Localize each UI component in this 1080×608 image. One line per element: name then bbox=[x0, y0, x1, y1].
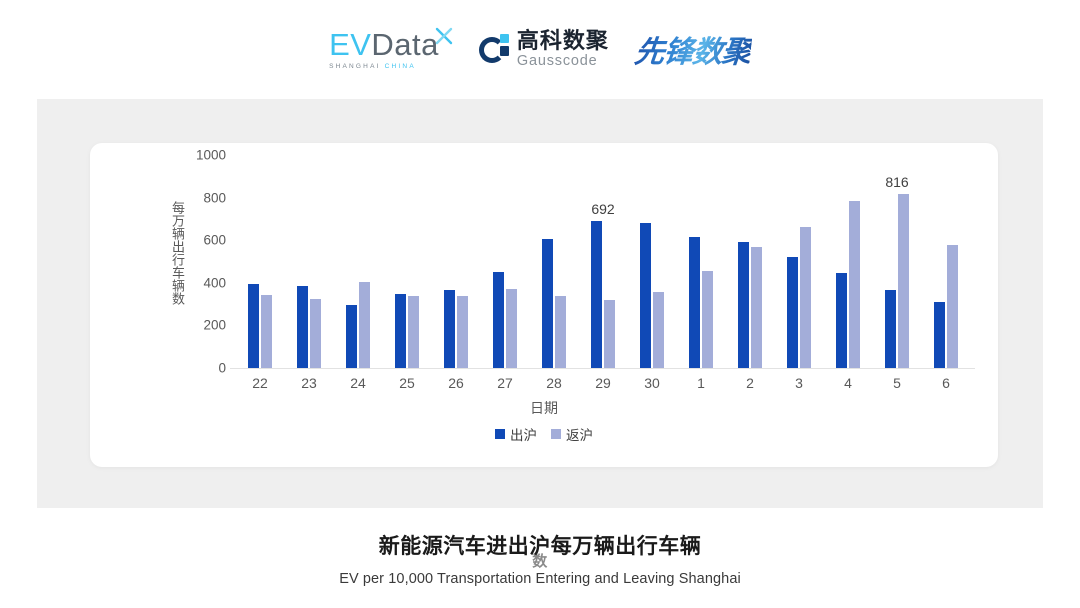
y-axis-tick-0: 0 bbox=[218, 361, 226, 376]
bar-back[interactable] bbox=[849, 201, 860, 368]
x-sparkle-icon bbox=[435, 26, 455, 46]
bar-group[interactable] bbox=[287, 155, 331, 368]
x-axis-tick-labels: 222324252627282930123456 bbox=[238, 375, 968, 395]
bar-groups: 692816 bbox=[238, 155, 968, 368]
x-axis-tick-label: 25 bbox=[385, 375, 429, 395]
bar-out[interactable] bbox=[640, 223, 651, 368]
legend-label: 返沪 bbox=[566, 424, 593, 444]
x-axis-tick-label: 29 bbox=[581, 375, 625, 395]
bar-back[interactable] bbox=[702, 271, 713, 368]
bar-out[interactable] bbox=[248, 284, 259, 368]
bar-back[interactable] bbox=[653, 292, 664, 368]
x-axis-tick-label: 30 bbox=[630, 375, 674, 395]
y-axis-tick-600: 600 bbox=[203, 233, 226, 248]
x-axis-title: 日期 bbox=[90, 398, 998, 418]
bar-group[interactable] bbox=[728, 155, 772, 368]
bar-back[interactable] bbox=[457, 296, 468, 368]
chart-legend: 出沪返沪 bbox=[90, 424, 998, 444]
x-axis-tick-label: 22 bbox=[238, 375, 282, 395]
gausscode-cn-text: 高科数聚 bbox=[517, 30, 609, 52]
bar-out[interactable] bbox=[689, 237, 700, 368]
bar-chart: 每万辆出行车辆数 02004006008001000 692816 222324… bbox=[90, 143, 998, 467]
legend-swatch-icon bbox=[495, 429, 505, 439]
legend-item-back[interactable]: 返沪 bbox=[551, 424, 593, 444]
bar-value-label: 692 bbox=[591, 201, 614, 217]
chart-card: 每万辆出行车辆数 02004006008001000 692816 222324… bbox=[90, 143, 998, 467]
y-axis-tick-200: 200 bbox=[203, 318, 226, 333]
legend-label: 出沪 bbox=[510, 424, 537, 444]
bar-group[interactable] bbox=[483, 155, 527, 368]
bar-out[interactable] bbox=[787, 257, 798, 368]
bar-back[interactable] bbox=[898, 194, 909, 368]
bar-out[interactable] bbox=[591, 221, 602, 368]
bar-back[interactable] bbox=[261, 295, 272, 368]
evdata-wordmark: EVData bbox=[329, 29, 439, 60]
y-axis-tick-1000: 1000 bbox=[196, 148, 226, 163]
x-axis-tick-label: 2 bbox=[728, 375, 772, 395]
bar-back[interactable] bbox=[947, 245, 958, 368]
caption-title-cn: 新能源汽车进出沪每万辆出行车辆 数 bbox=[379, 530, 702, 560]
evdata-ev-text: EV bbox=[329, 27, 371, 62]
bar-back[interactable] bbox=[800, 227, 811, 368]
logo-xianfeng: 先锋数聚 bbox=[633, 27, 754, 71]
x-axis-tick-label: 5 bbox=[875, 375, 919, 395]
bar-group[interactable] bbox=[630, 155, 674, 368]
y-axis-title: 每万辆出行车辆数 bbox=[168, 183, 186, 323]
bar-out[interactable] bbox=[738, 242, 749, 368]
evdata-tagline-city: SHANGHAI bbox=[329, 63, 381, 70]
bar-group[interactable] bbox=[336, 155, 380, 368]
bar-group[interactable] bbox=[434, 155, 478, 368]
bar-back[interactable] bbox=[751, 247, 762, 368]
gausscode-mark-icon bbox=[479, 34, 510, 65]
x-axis-tick-label: 27 bbox=[483, 375, 527, 395]
bar-out[interactable] bbox=[836, 273, 847, 368]
legend-item-out[interactable]: 出沪 bbox=[495, 424, 537, 444]
bar-out[interactable] bbox=[346, 305, 357, 368]
slide-root: EVData SHANGHAI CHINA 高科数聚 Gausscode bbox=[0, 0, 1080, 608]
logo-evdata: EVData SHANGHAI CHINA bbox=[329, 29, 453, 70]
x-axis-tick-label: 23 bbox=[287, 375, 331, 395]
bar-group[interactable] bbox=[679, 155, 723, 368]
bar-back[interactable] bbox=[604, 300, 615, 368]
x-axis-tick-label: 6 bbox=[924, 375, 968, 395]
bar-group[interactable]: 692 bbox=[581, 155, 625, 368]
evdata-data-text: Data bbox=[371, 27, 438, 62]
bar-out[interactable] bbox=[542, 239, 553, 369]
bar-group[interactable] bbox=[532, 155, 576, 368]
bar-out[interactable] bbox=[444, 290, 455, 368]
bar-out[interactable] bbox=[934, 302, 945, 368]
caption-block: 新能源汽车进出沪每万辆出行车辆 数 EV per 10,000 Transpor… bbox=[0, 530, 1080, 587]
bar-group[interactable] bbox=[238, 155, 282, 368]
bar-value-label: 816 bbox=[885, 174, 908, 190]
logo-gausscode: 高科数聚 Gausscode bbox=[479, 30, 609, 69]
caption-title-text: 新能源汽车进出沪每万辆出行车辆 bbox=[379, 535, 702, 558]
gausscode-en-text: Gausscode bbox=[517, 54, 609, 69]
logo-bar: EVData SHANGHAI CHINA 高科数聚 Gausscode bbox=[0, 18, 1080, 80]
bar-group[interactable] bbox=[924, 155, 968, 368]
bar-back[interactable] bbox=[555, 296, 566, 368]
bar-group[interactable] bbox=[777, 155, 821, 368]
bar-group[interactable] bbox=[826, 155, 870, 368]
x-axis-tick-label: 28 bbox=[532, 375, 576, 395]
x-axis-tick-label: 26 bbox=[434, 375, 478, 395]
y-axis-ticks: 02004006008001000 bbox=[186, 143, 232, 467]
y-axis-tick-800: 800 bbox=[203, 190, 226, 205]
x-axis-baseline bbox=[230, 368, 975, 369]
bar-out[interactable] bbox=[493, 272, 504, 368]
bar-out[interactable] bbox=[395, 294, 406, 368]
x-axis-tick-label: 24 bbox=[336, 375, 380, 395]
evdata-tagline-country: CHINA bbox=[385, 63, 416, 70]
bar-back[interactable] bbox=[408, 296, 419, 368]
bar-group[interactable] bbox=[385, 155, 429, 368]
caption-subtitle-en: EV per 10,000 Transportation Entering an… bbox=[0, 571, 1080, 587]
y-axis-tick-400: 400 bbox=[203, 275, 226, 290]
x-axis-tick-label: 3 bbox=[777, 375, 821, 395]
bar-out[interactable] bbox=[885, 290, 896, 368]
bar-back[interactable] bbox=[310, 299, 321, 368]
bar-group[interactable]: 816 bbox=[875, 155, 919, 368]
legend-swatch-icon bbox=[551, 429, 561, 439]
evdata-tagline: SHANGHAI CHINA bbox=[329, 63, 439, 70]
bar-back[interactable] bbox=[506, 289, 517, 368]
x-axis-tick-label: 1 bbox=[679, 375, 723, 395]
x-axis-tick-label: 4 bbox=[826, 375, 870, 395]
bar-out[interactable] bbox=[297, 286, 308, 368]
bar-back[interactable] bbox=[359, 282, 370, 368]
